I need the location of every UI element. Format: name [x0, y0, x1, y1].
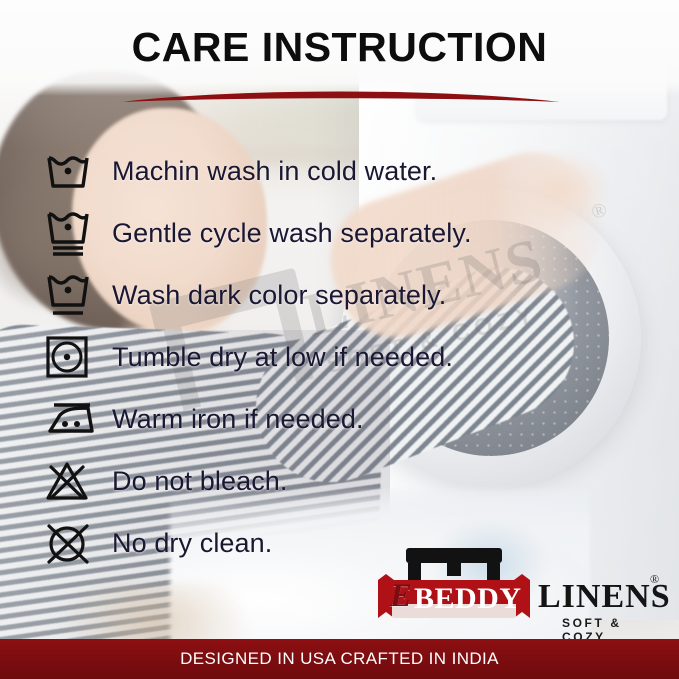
machine-wash-icon	[44, 143, 112, 199]
instruction-text: Do not bleach.	[112, 466, 288, 497]
brand-registered-mark: ®	[650, 572, 659, 587]
instruction-text: Wash dark color separately.	[112, 280, 446, 311]
list-item: Tumble dry at low if needed.	[44, 326, 644, 388]
instruction-text: Gentle cycle wash separately.	[112, 218, 472, 249]
care-instruction-card: LINENS ® SOFT & COZY CARE INSTRUCTION Ma…	[0, 0, 679, 679]
title-divider-swoosh	[118, 88, 562, 104]
instruction-text: Tumble dry at low if needed.	[112, 342, 453, 373]
gentle-cycle-wash-icon	[44, 205, 112, 261]
footer-text: DESIGNED IN USA CRAFTED IN INDIA	[180, 649, 499, 669]
list-item: Do not bleach.	[44, 450, 644, 512]
page-title: CARE INSTRUCTION	[0, 24, 679, 71]
tumble-dry-low-icon	[44, 329, 112, 385]
brand-logo: E BEDDY LINENS ® SOFT & COZY	[378, 548, 668, 636]
list-item: Gentle cycle wash separately.	[44, 202, 644, 264]
instruction-text: Warm iron if needed.	[112, 404, 364, 435]
list-item: Warm iron if needed.	[44, 388, 644, 450]
brand-name: BEDDY	[414, 582, 522, 616]
no-dry-clean-icon	[44, 515, 112, 571]
instruction-text: No dry clean.	[112, 528, 272, 559]
brand-initial: E	[390, 578, 412, 615]
footer-bar: DESIGNED IN USA CRAFTED IN INDIA	[0, 639, 679, 679]
list-item: Wash dark color separately.	[44, 264, 644, 326]
instruction-list: Machin wash in cold water. Gentle cycle …	[44, 140, 644, 574]
wash-dark-color-icon	[44, 267, 112, 323]
bed-headboard	[406, 548, 502, 563]
warm-iron-icon	[44, 391, 112, 447]
instruction-text: Machin wash in cold water.	[112, 156, 437, 187]
list-item: Machin wash in cold water.	[44, 140, 644, 202]
do-not-bleach-icon	[44, 453, 112, 509]
